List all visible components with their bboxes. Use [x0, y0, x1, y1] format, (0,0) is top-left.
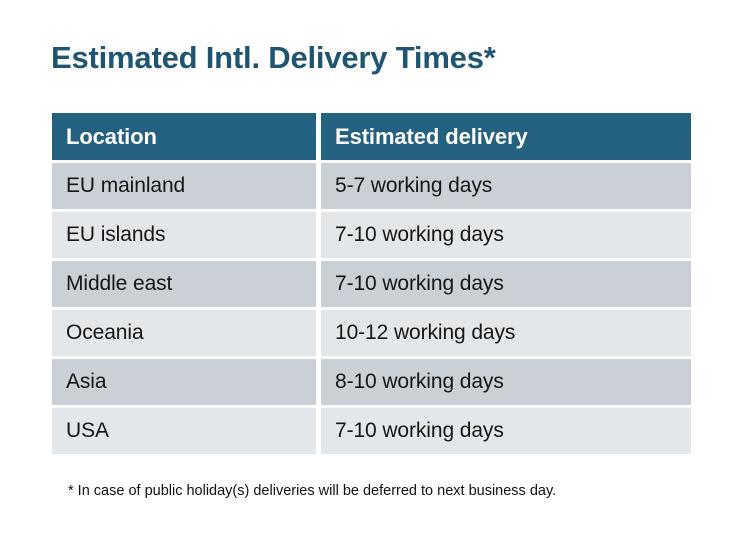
delivery-times-table: Location Estimated delivery EU mainland … — [52, 113, 691, 454]
delivery-value: 7-10 working days — [335, 419, 504, 443]
location-value: USA — [66, 419, 109, 443]
location-value: Asia — [66, 370, 106, 394]
delivery-value: 5-7 working days — [335, 174, 492, 198]
table-cell-delivery: 7-10 working days — [321, 408, 691, 454]
column-header-delivery-label: Estimated delivery — [335, 124, 528, 150]
table-cell-delivery: 7-10 working days — [321, 261, 691, 307]
location-value: Middle east — [66, 272, 172, 296]
table-cell-delivery: 5-7 working days — [321, 163, 691, 209]
delivery-value: 8-10 working days — [335, 370, 504, 394]
delivery-times-page: Estimated Intl. Delivery Times* Location… — [0, 0, 745, 536]
table-row: Asia 8-10 working days — [52, 359, 691, 405]
table-cell-location: Middle east — [52, 261, 316, 307]
table-row: EU mainland 5-7 working days — [52, 163, 691, 209]
column-header-location-label: Location — [66, 124, 157, 150]
table-header-cell-location: Location — [52, 113, 316, 160]
delivery-value: 10-12 working days — [335, 321, 515, 345]
table-cell-location: USA — [52, 408, 316, 454]
table-cell-delivery: 8-10 working days — [321, 359, 691, 405]
table-cell-delivery: 10-12 working days — [321, 310, 691, 356]
table-header-row: Location Estimated delivery — [52, 113, 691, 160]
location-value: EU islands — [66, 223, 165, 247]
page-title: Estimated Intl. Delivery Times* — [51, 38, 496, 78]
table-row: EU islands 7-10 working days — [52, 212, 691, 258]
table-cell-location: Asia — [52, 359, 316, 405]
table-row: USA 7-10 working days — [52, 408, 691, 454]
table-row: Middle east 7-10 working days — [52, 261, 691, 307]
table-header-cell-delivery: Estimated delivery — [321, 113, 691, 160]
footnote-text: * In case of public holiday(s) deliverie… — [68, 481, 556, 501]
delivery-value: 7-10 working days — [335, 272, 504, 296]
table-row: Oceania 10-12 working days — [52, 310, 691, 356]
table-cell-delivery: 7-10 working days — [321, 212, 691, 258]
table-cell-location: EU mainland — [52, 163, 316, 209]
table-cell-location: Oceania — [52, 310, 316, 356]
location-value: EU mainland — [66, 174, 185, 198]
location-value: Oceania — [66, 321, 144, 345]
table-cell-location: EU islands — [52, 212, 316, 258]
delivery-value: 7-10 working days — [335, 223, 504, 247]
